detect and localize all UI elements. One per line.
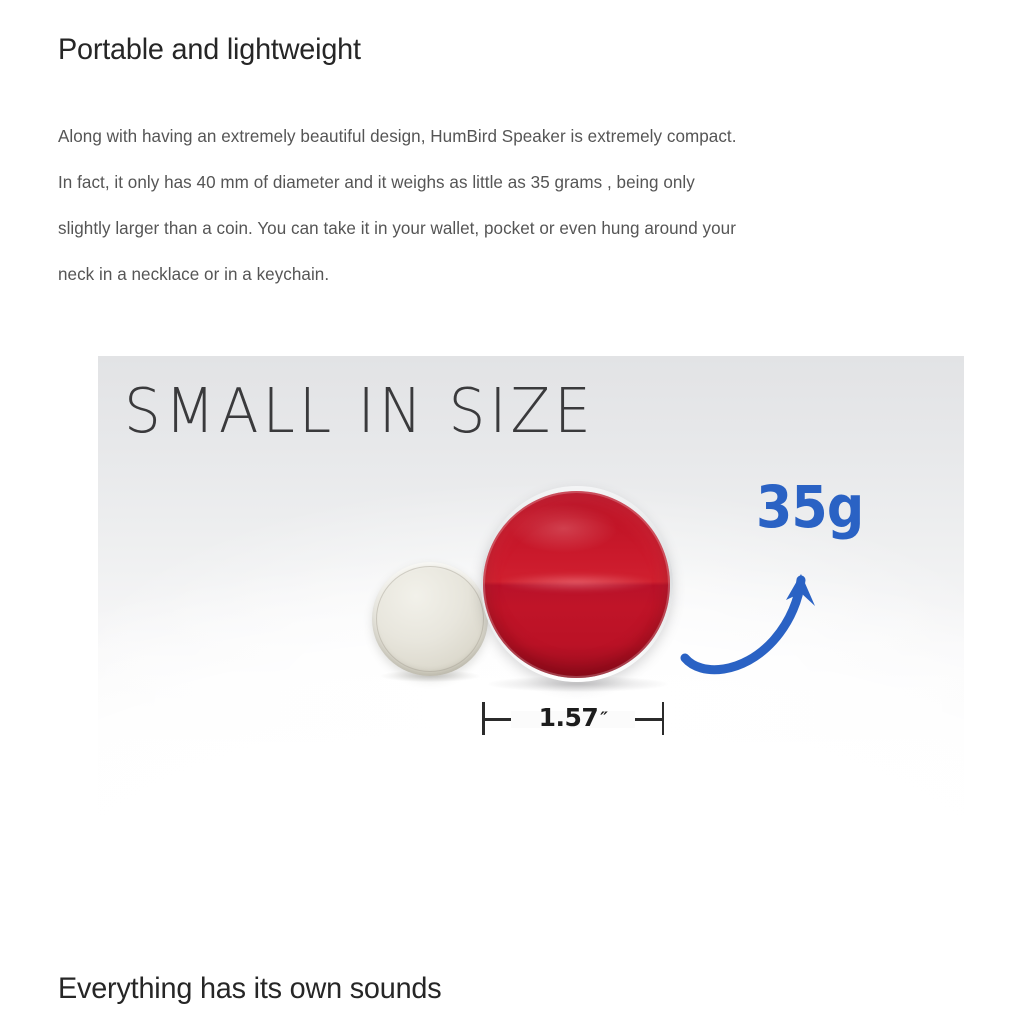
dimension-unit: ″ [598,709,607,729]
banner-headline: SMALL IN SIZE [124,380,595,441]
next-section-title: Everything has its own sounds [58,972,441,1006]
dimension-tick-left [482,702,485,735]
red-speaker-product [483,491,670,678]
dimension-measurement: 1.57″ [482,702,664,736]
weight-callout-label: 35g [756,478,863,536]
page-title: Portable and lightweight [58,33,361,67]
body-paragraph: Along with having an extremely beautiful… [58,113,930,297]
product-banner-image: SMALL IN SIZE 1.57″ 35g [98,356,964,845]
curved-up-arrow-icon [673,546,873,686]
paragraph-line: slightly larger than a coin. You can tak… [58,205,908,251]
paragraph-line: neck in a necklace or in a keychain. [58,251,908,297]
paragraph-line: Along with having an extremely beautiful… [58,113,908,159]
dimension-label: 1.57″ [533,701,614,736]
paragraph-line: In fact, it only has 40 mm of diameter a… [58,159,908,205]
dimension-tick-right [662,702,665,735]
dimension-value: 1.57 [539,703,599,732]
coin-reference-object [372,562,488,676]
